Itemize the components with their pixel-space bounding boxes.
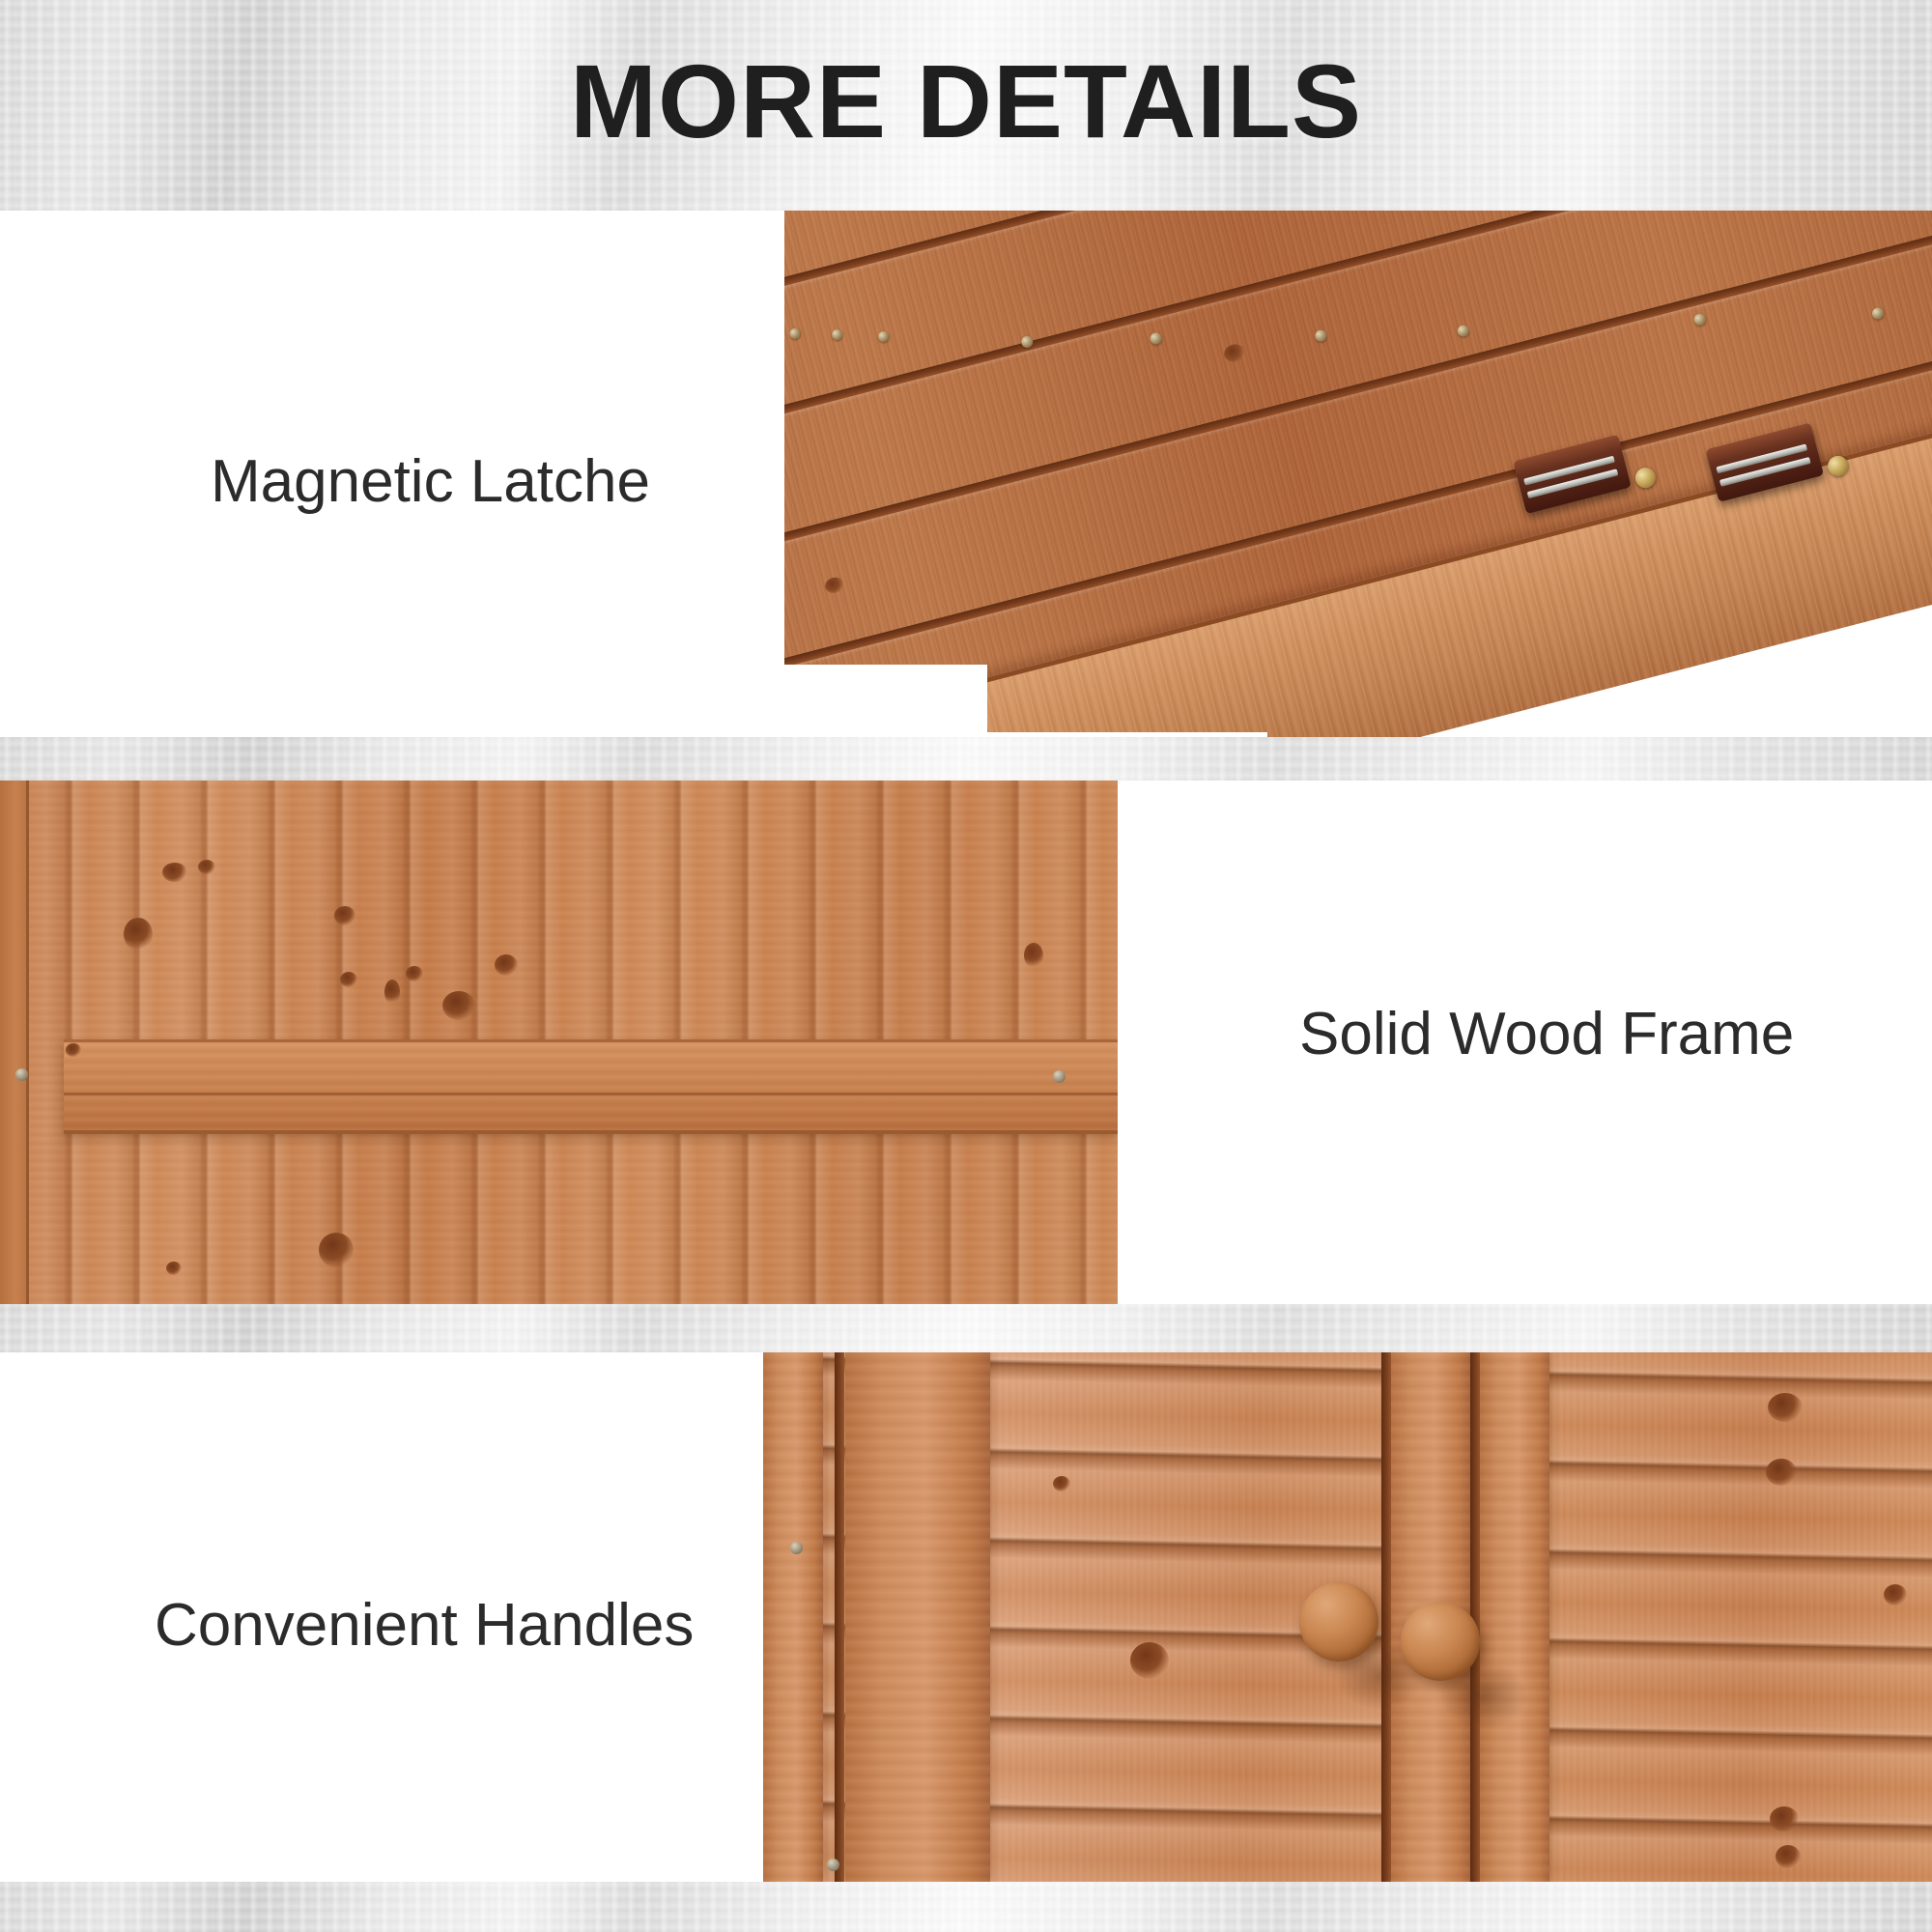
wood-knot [384, 980, 400, 1005]
wood-knot [495, 954, 518, 976]
wood-knot [1884, 1584, 1907, 1605]
wood-knot [1776, 1845, 1801, 1868]
door-stile-center-right [1480, 1352, 1549, 1882]
wood-knot [166, 1262, 182, 1275]
bottom-banner [0, 1882, 1932, 1932]
door-knob-handle-right[interactable] [1401, 1602, 1480, 1681]
screw-head [827, 1859, 839, 1871]
wood-knot [319, 1233, 354, 1267]
panel-left-stile [0, 781, 29, 1304]
wood-knot [340, 972, 357, 987]
wood-knot [1053, 1476, 1070, 1492]
solid-wood-frame-photo [0, 781, 1118, 1304]
door-stile-left [845, 1352, 990, 1882]
screw-head [790, 1542, 803, 1554]
convenient-handles-photo [763, 1352, 1932, 1882]
door-gap [835, 1352, 844, 1882]
door-stile-outer [763, 1352, 823, 1882]
detail-section-convenient-handles: Convenient Handles [0, 1352, 1932, 1882]
brace-seam [64, 1093, 1118, 1095]
wood-knot [1768, 1393, 1803, 1422]
door-knob-handle-left[interactable] [1299, 1582, 1378, 1662]
screw-head [1053, 1070, 1065, 1083]
screw-head [15, 1068, 28, 1081]
door-gap [1381, 1352, 1391, 1882]
detail-section-magnetic-latch: Magnetic Latche [0, 211, 1932, 737]
wood-knot [198, 860, 215, 874]
caption-solid-wood-frame: Solid Wood Frame [1299, 1005, 1794, 1065]
wood-knot [1770, 1806, 1799, 1832]
deck-assembly [784, 211, 1932, 737]
wood-knot [66, 1043, 81, 1057]
section-separator-2 [0, 1304, 1932, 1352]
photo-crop-mask [784, 665, 987, 737]
page-title: MORE DETAILS [570, 49, 1362, 154]
horizontal-cross-brace [64, 1039, 1118, 1134]
wood-knot [1024, 943, 1043, 968]
caption-magnetic-latch: Magnetic Latche [211, 452, 650, 512]
wood-knot [124, 918, 153, 951]
detail-section-solid-wood-frame: Solid Wood Frame [0, 781, 1932, 1304]
wood-knot [1130, 1642, 1169, 1679]
wood-knot [1766, 1459, 1797, 1486]
header-banner: MORE DETAILS [0, 0, 1932, 211]
caption-convenient-handles: Convenient Handles [155, 1596, 694, 1656]
wood-knot [162, 863, 187, 882]
wood-knot [442, 991, 475, 1020]
wood-knot [334, 906, 355, 925]
section-separator-1 [0, 737, 1932, 781]
wood-knot [406, 966, 423, 981]
magnetic-latch-photo [784, 211, 1932, 737]
